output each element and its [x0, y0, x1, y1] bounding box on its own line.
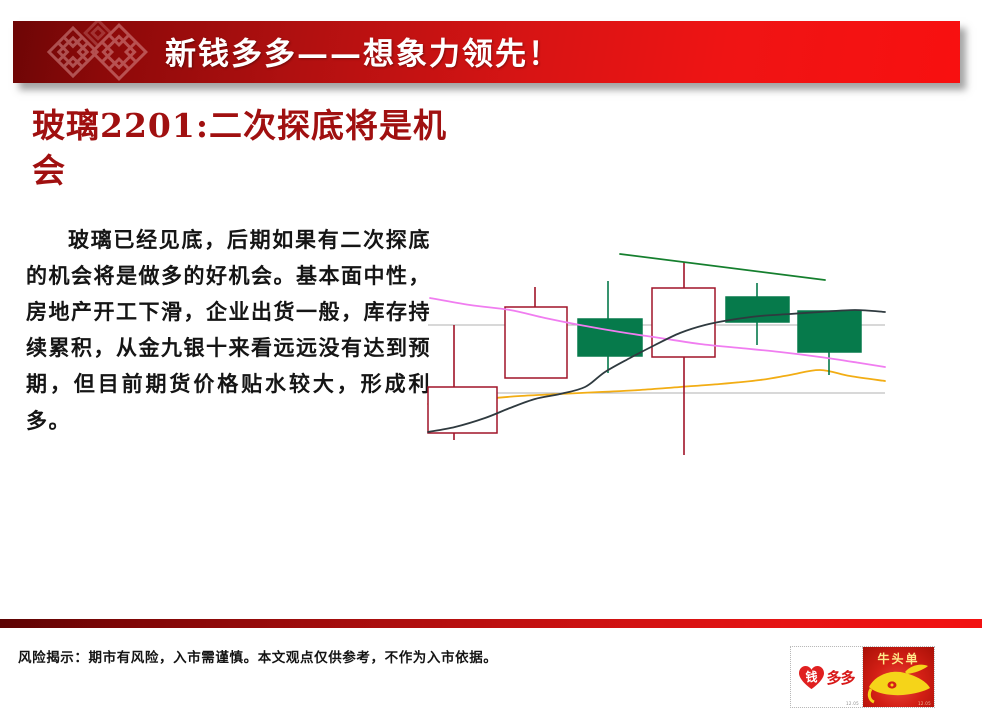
niutoudan-logo: 牛头单 12.05 [863, 647, 934, 707]
candle-body [578, 319, 642, 356]
heart-icon: 钱 [798, 665, 825, 690]
qianduoduo-logo: 钱 多多 12.05 [791, 647, 863, 707]
left-stamp-code: 12.05 [846, 701, 859, 706]
logo-stamps: 钱 多多 12.05 牛头单 12.05 [790, 646, 935, 708]
slide-root: 新钱多多——想象力领先！ 玻璃2201:二次探底将是机会 玻璃已经见底，后期如果… [0, 0, 982, 720]
candlestick-chart [420, 230, 910, 480]
candle-0 [428, 325, 497, 440]
qianduoduo-label: 多多 [826, 667, 854, 688]
niutoudan-label: 牛头单 [863, 650, 934, 667]
candle-3 [652, 262, 715, 455]
candle-1 [505, 287, 567, 378]
body-paragraph: 玻璃已经见底，后期如果有二次探底的机会将是做多的好机会。基本面中性，房地产开工下… [26, 222, 431, 439]
chart-canvas [420, 230, 910, 480]
candle-body [505, 307, 567, 378]
footer-divider [0, 619, 982, 628]
candle-body [428, 387, 497, 433]
header-banner: 新钱多多——想象力领先！ [13, 21, 960, 83]
diamond-lattice-pattern-icon [35, 21, 175, 83]
candle-body [652, 288, 715, 357]
page-title: 玻璃2201:二次探底将是机会 [32, 104, 462, 194]
bull-head-icon [865, 661, 932, 705]
candle-body [798, 311, 861, 352]
candle-5 [798, 311, 861, 375]
header-title: 新钱多多——想象力领先！ [165, 29, 561, 74]
heart-label: 钱 [806, 669, 818, 684]
chart-series-trendline-green [620, 254, 825, 280]
disclaimer-text: 风险揭示：期市有风险，入市需谨慎。本文观点仅供参考，不作为入市依据。 [18, 646, 497, 666]
